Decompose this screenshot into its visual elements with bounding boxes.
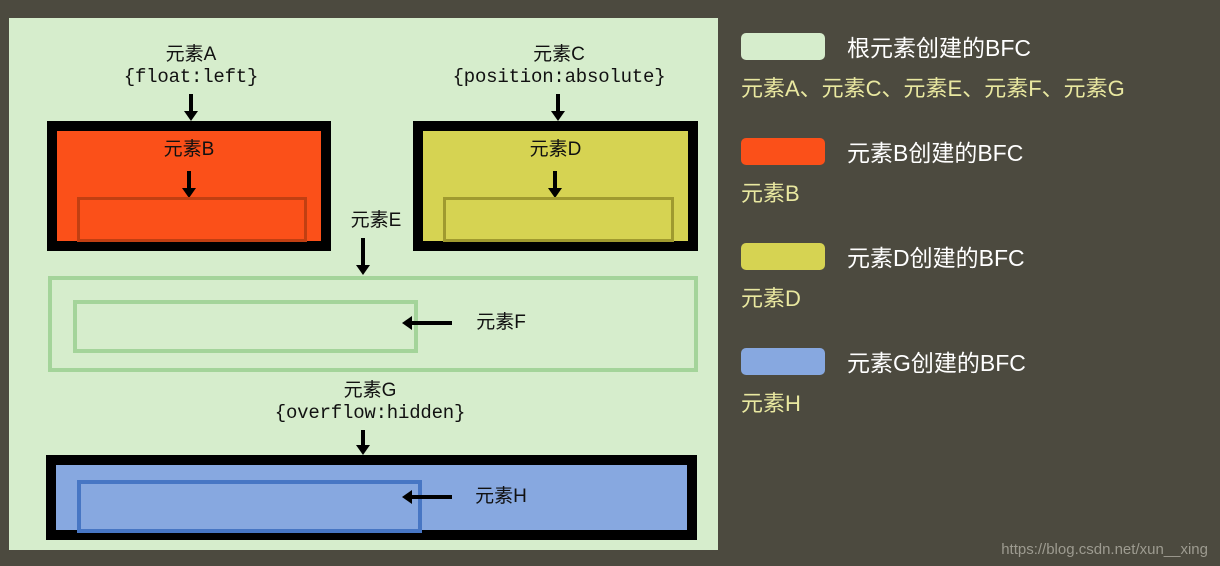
label-element-d-name: 元素D xyxy=(423,139,688,161)
label-element-c-css: {position:absolute} xyxy=(429,66,689,88)
label-element-e-name: 元素E xyxy=(334,210,418,232)
legend-panel: 根元素创建的BFC 元素A、元素C、元素E、元素F、元素G 元素B创建的BFC … xyxy=(741,32,1211,444)
label-element-g: 元素G {overflow:hidden} xyxy=(250,380,490,425)
label-element-f-name: 元素F xyxy=(459,312,543,334)
arrow-f-pointer xyxy=(412,321,452,325)
diagram-root-bfc-panel: 元素A {float:left} 元素C {position:absolute}… xyxy=(9,18,718,550)
label-element-g-name: 元素G xyxy=(250,380,490,402)
watermark-url: https://blog.csdn.net/xun__xing xyxy=(1001,541,1208,558)
legend-swatch-d-icon xyxy=(741,243,825,270)
arrow-g-to-box xyxy=(361,430,365,446)
legend-title-root: 根元素创建的BFC xyxy=(847,29,1031,63)
arrow-e-to-box xyxy=(361,238,365,266)
label-element-g-css: {overflow:hidden} xyxy=(250,402,490,424)
legend-swatch-root-icon xyxy=(741,33,825,60)
label-element-a: 元素A {float:left} xyxy=(103,44,279,89)
box-element-e xyxy=(48,276,698,372)
box-element-d-inner xyxy=(443,197,674,242)
arrow-d-to-inner xyxy=(553,171,557,189)
arrow-b-to-inner xyxy=(187,171,191,189)
label-element-a-css: {float:left} xyxy=(103,66,279,88)
label-element-h-name: 元素H xyxy=(459,486,543,508)
legend-head-d: 元素D创建的BFC xyxy=(741,242,1211,270)
legend-head-root: 根元素创建的BFC xyxy=(741,32,1211,60)
legend-swatch-g-icon xyxy=(741,348,825,375)
box-element-g-bfc xyxy=(46,455,697,540)
legend-title-b: 元素B创建的BFC xyxy=(847,134,1023,168)
label-element-h: 元素H xyxy=(459,486,543,508)
legend-swatch-b-icon xyxy=(741,138,825,165)
legend-item-b: 元素B创建的BFC 元素B xyxy=(741,137,1211,208)
legend-members-root: 元素A、元素C、元素E、元素F、元素G xyxy=(741,71,1211,103)
box-element-b-inner xyxy=(77,197,307,242)
label-element-c: 元素C {position:absolute} xyxy=(429,44,689,89)
arrow-h-pointer xyxy=(412,495,452,499)
box-element-g-fill xyxy=(56,465,687,530)
label-element-f: 元素F xyxy=(459,312,543,334)
label-element-d: 元素D xyxy=(423,139,688,161)
legend-head-g: 元素G创建的BFC xyxy=(741,347,1211,375)
label-element-b: 元素B xyxy=(57,139,321,161)
box-element-d-fill: 元素D xyxy=(423,131,688,241)
label-element-e: 元素E xyxy=(334,210,418,232)
legend-members-d: 元素D xyxy=(741,281,1211,313)
legend-members-b: 元素B xyxy=(741,176,1211,208)
box-element-b-fill: 元素B xyxy=(57,131,321,241)
box-element-b-bfc: 元素B xyxy=(47,121,331,251)
legend-title-d: 元素D创建的BFC xyxy=(847,239,1025,273)
label-element-b-name: 元素B xyxy=(57,139,321,161)
legend-item-g: 元素G创建的BFC 元素H xyxy=(741,347,1211,418)
box-element-d-bfc: 元素D xyxy=(413,121,698,251)
legend-item-root: 根元素创建的BFC 元素A、元素C、元素E、元素F、元素G xyxy=(741,32,1211,103)
legend-members-g: 元素H xyxy=(741,386,1211,418)
arrow-a-to-b xyxy=(189,94,193,112)
box-element-h xyxy=(77,480,422,533)
legend-item-d: 元素D创建的BFC 元素D xyxy=(741,242,1211,313)
label-element-c-name: 元素C xyxy=(429,44,689,66)
label-element-a-name: 元素A xyxy=(103,44,279,66)
arrow-c-to-d xyxy=(556,94,560,112)
legend-head-b: 元素B创建的BFC xyxy=(741,137,1211,165)
legend-title-g: 元素G创建的BFC xyxy=(847,344,1026,378)
box-element-f xyxy=(73,300,418,353)
